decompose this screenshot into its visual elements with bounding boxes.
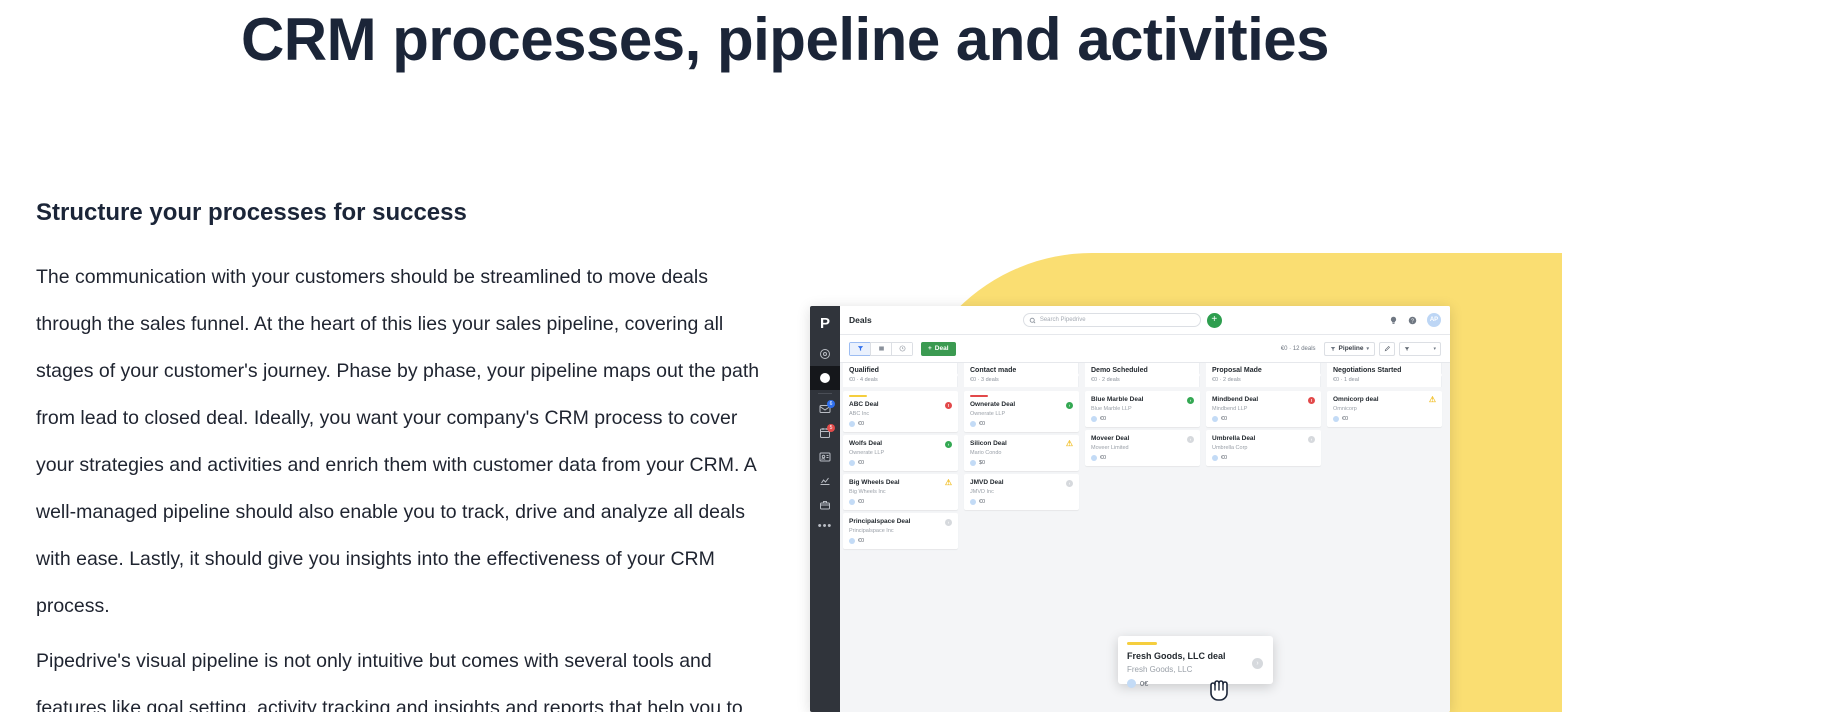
search-icon [1029,317,1036,324]
status-badge: ! [1308,397,1315,404]
app-toolbar: + Deal €0 · 12 deals Pipeline ▾ [840,335,1450,363]
deal-footer: €0 [849,460,952,466]
deal-value: €0 [1100,455,1106,461]
deal-value: €0 [858,421,864,427]
stage-header[interactable]: Demo Scheduled €0 · 2 deals [1085,363,1200,387]
pipeline-stage: Negotiations Started €0 · 1 deal Omnicor… [1324,363,1445,712]
deal-footer: €0 [970,499,1073,505]
stage-name: Contact made [970,366,1078,375]
owner-avatar [849,460,855,466]
deal-footer: €0 [1091,416,1194,422]
deal-title: ABC Deal [849,400,952,409]
deal-value: €0 [858,499,864,505]
sidebar-item-mail[interactable]: 6 [810,397,840,421]
dragged-deal-title: Fresh Goods, LLC deal [1127,650,1264,662]
svg-text:?: ? [1411,318,1414,324]
deal-title: JMVD Deal [970,478,1073,487]
chevron-down-icon: ▾ [1366,346,1369,352]
dragged-deal-org: Fresh Goods, LLC [1127,664,1264,675]
deal-footer: $0 [970,460,1073,466]
deal-value: €0 [979,499,985,505]
list-icon [878,345,885,352]
paragraph-1: The communication with your customers sh… [36,254,774,630]
deal-footer: €0 [849,499,952,505]
card-color-bar [970,395,988,397]
deal-footer: €0 [1212,416,1315,422]
stage-summary: €0 · 3 deals [970,376,1078,384]
stage-header[interactable]: Proposal Made €0 · 2 deals [1206,363,1321,387]
deal-org: Mindbend LLP [1212,405,1315,413]
deal-org: JMVD Inc [970,488,1073,496]
deal-title: Wolfs Deal [849,439,952,448]
dragged-deal-card[interactable]: Fresh Goods, LLC deal Fresh Goods, LLC 0… [1118,636,1273,684]
deal-footer: €0 [1212,455,1315,461]
topbar-right-actions: ? AP [1373,313,1441,327]
deal-footer: €0 [849,538,952,544]
activities-badge: 5 [827,424,835,432]
dragged-card-color-bar [1127,642,1157,645]
status-badge: › [1187,397,1194,404]
topbar-title: Deals [849,315,872,325]
app-sidebar: P 6 5 [810,306,840,712]
deal-value: €0 [1221,455,1227,461]
search-placeholder: Search Pipedrive [1040,317,1086,323]
owner-avatar [1333,416,1339,422]
deal-card[interactable]: Omnicorp deal Omnicorp €0 ⚠ [1327,391,1442,427]
search-input[interactable]: Search Pipedrive [1023,313,1201,327]
deal-org: Blue Marble LLP [1091,405,1194,413]
sidebar-item-products[interactable] [810,493,840,517]
stage-cards: Ownerate Deal Ownerate LLP €0 › Silicon … [964,387,1079,510]
grab-hand-cursor-icon [1206,674,1232,704]
deal-card[interactable]: ABC Deal ABC Inc €0 ! [843,391,958,432]
status-badge: ⚠ [945,479,952,486]
deal-card[interactable]: Big Wheels Deal Big Wheels Inc €0 ⚠ [843,474,958,510]
owner-avatar [849,538,855,544]
deal-card[interactable]: Mindbend Deal Mindbend LLP €0 ! [1206,391,1321,427]
deal-title: Big Wheels Deal [849,478,952,487]
deal-card[interactable]: Wolfs Deal Ownerate LLP €0 › [843,435,958,471]
deal-title: Umbrella Deal [1212,434,1315,443]
pipeline-view-button[interactable] [849,342,871,356]
owner-avatar [849,499,855,505]
owner-avatar [970,421,976,427]
sidebar-divider [818,393,832,394]
app-topbar: Deals Search Pipedrive + [840,306,1450,335]
add-button[interactable]: + [1207,313,1222,328]
stage-summary: €0 · 2 deals [1091,376,1199,384]
page-root: CRM processes, pipeline and activities S… [0,0,1847,712]
deal-title: Blue Marble Deal [1091,395,1194,404]
sidebar-item-contacts[interactable] [810,445,840,469]
pipeline-stage: Contact made €0 · 3 deals Ownerate Deal … [961,363,1082,712]
deal-value: $0 [979,460,985,466]
dragged-deal-value: 0€ [1140,679,1148,688]
stage-summary: €0 · 1 deal [1333,376,1441,384]
deals-summary: €0 · 12 deals [1281,346,1316,352]
deal-org: Ownerate LLP [849,449,952,457]
deal-title: Moveer Deal [1091,434,1194,443]
search-area: Search Pipedrive + [1023,313,1222,328]
deal-title: Mindbend Deal [1212,395,1315,404]
sidebar-item-leads[interactable] [810,342,840,366]
dragged-deal-footer: 0€ [1127,679,1264,688]
status-badge: › [1187,436,1194,443]
forecast-icon [899,345,906,352]
deal-footer: €0 [1091,455,1194,461]
owner-avatar [1091,416,1097,422]
owner-avatar [1091,455,1097,461]
deal-value: €0 [1342,416,1348,422]
owner-avatar [1212,455,1218,461]
deal-value: €0 [979,421,985,427]
status-badge: › [1066,402,1073,409]
owner-avatar [1212,416,1218,422]
deal-value: €0 [858,538,864,544]
stage-cards: ABC Deal ABC Inc €0 ! Wolfs Deal Ownerat… [843,387,958,549]
stage-cards: Mindbend Deal Mindbend LLP €0 ! Umbrella… [1206,387,1321,466]
filter-icon [1404,346,1410,352]
owner-avatar [849,421,855,427]
status-badge: ⚠ [1429,396,1436,403]
user-avatar[interactable]: AP [1427,313,1441,327]
page-title: CRM processes, pipeline and activities [0,2,1570,78]
status-badge: ⚠ [1066,440,1073,447]
pipeline-stage: Qualified €0 · 4 deals ABC Deal ABC Inc … [840,363,961,712]
funnel-small-icon [1330,346,1336,352]
deal-title: Principalspace Deal [849,517,952,526]
deal-org: Omnicorp [1333,405,1436,413]
filter-chevron-down-icon: ▾ [1433,346,1436,352]
sidebar-item-deals[interactable] [810,366,840,390]
card-color-bar [849,395,867,397]
add-deal-label: Deal [935,345,949,352]
deal-footer: €0 [1333,416,1436,422]
pencil-icon [1384,345,1391,352]
pipeline-selector[interactable]: Pipeline ▾ [1324,342,1375,356]
stage-header[interactable]: Qualified €0 · 4 deals [843,363,958,387]
sidebar-item-insights[interactable] [810,469,840,493]
deal-org: Umbrella Corp [1212,444,1315,452]
status-badge: › [945,519,952,526]
status-badge: › [1308,436,1315,443]
dragged-owner-avatar [1127,679,1136,688]
deal-title: Omnicorp deal [1333,395,1436,404]
deal-footer: €0 [849,421,952,427]
deal-card[interactable]: JMVD Deal JMVD Inc €0 › [964,474,1079,510]
status-badge: › [945,441,952,448]
stage-cards: Omnicorp deal Omnicorp €0 ⚠ [1327,387,1442,427]
deal-org: ABC Inc [849,410,952,418]
view-switcher [849,342,913,356]
deal-value: €0 [858,460,864,466]
stage-name: Qualified [849,366,957,375]
owner-avatar [970,499,976,505]
deal-card[interactable]: Principalspace Deal Principalspace Inc €… [843,513,958,549]
deal-card[interactable]: Silicon Deal Mario Condo $0 ⚠ [964,435,1079,471]
deal-footer: €0 [970,421,1073,427]
deal-value: €0 [1100,416,1106,422]
stage-summary: €0 · 2 deals [1212,376,1320,384]
deal-title: Ownerate Deal [970,400,1073,409]
stage-header[interactable]: Contact made €0 · 3 deals [964,363,1079,387]
stage-summary: €0 · 4 deals [849,376,957,384]
owner-avatar [970,460,976,466]
paragraph-2: Pipedrive's visual pipeline is not only … [36,638,774,712]
deal-title: Silicon Deal [970,439,1073,448]
deal-card[interactable]: Umbrella Deal Umbrella Corp €0 › [1206,430,1321,466]
deal-card[interactable]: Ownerate Deal Ownerate LLP €0 › [964,391,1079,432]
deal-org: Mario Condo [970,449,1073,457]
sidebar-item-activities[interactable]: 5 [810,421,840,445]
lightbulb-icon[interactable] [1389,316,1398,325]
deal-org: Ownerate LLP [970,410,1073,418]
deal-org: Moveer Limited [1091,444,1194,452]
deal-org: Big Wheels Inc [849,488,952,496]
deal-value: €0 [1221,416,1227,422]
sidebar-more-icon[interactable]: ••• [818,521,833,531]
deal-org: Principalspace Inc [849,527,952,535]
status-badge: › [1066,480,1073,487]
status-badge: ! [945,402,952,409]
deal-card[interactable]: Moveer Deal Moveer Limited €0 › [1085,430,1200,466]
mail-badge: 6 [827,400,835,408]
section-heading: Structure your processes for success [36,196,774,230]
forecast-view-button[interactable] [891,342,913,356]
help-icon[interactable]: ? [1408,316,1417,325]
funnel-icon [857,345,864,352]
add-deal-plus: + [928,345,932,352]
filter-selector[interactable]: ▾ [1399,342,1441,356]
stage-name: Proposal Made [1212,366,1320,375]
stage-header[interactable]: Negotiations Started €0 · 1 deal [1327,363,1442,387]
stage-cards: Blue Marble Deal Blue Marble LLP €0 › Mo… [1085,387,1200,466]
deal-card[interactable]: Blue Marble Deal Blue Marble LLP €0 › [1085,391,1200,427]
article-column: Structure your processes for success The… [36,196,774,712]
pipeline-selector-label: Pipeline [1339,345,1364,352]
edit-pipeline-button[interactable] [1379,342,1395,356]
add-deal-button[interactable]: + Deal [921,342,956,356]
toolbar-right-group: €0 · 12 deals Pipeline ▾ ▾ [1281,342,1441,356]
dragged-card-arrow-icon[interactable]: › [1252,658,1263,669]
stage-name: Negotiations Started [1333,366,1441,375]
pipedrive-logo-icon: P [814,312,836,334]
stage-name: Demo Scheduled [1091,366,1199,375]
list-view-button[interactable] [870,342,892,356]
